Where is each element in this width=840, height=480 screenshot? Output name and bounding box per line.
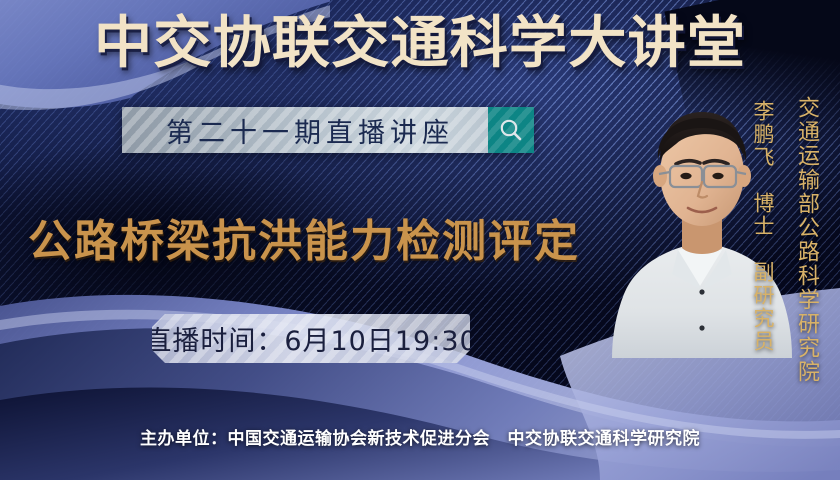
organizer-footer: 主办单位：中国交通运输协会新技术促进分会 中交协联交通科学研究院 bbox=[0, 424, 840, 449]
lecture-title: 公路桥梁抗洪能力检测评定 bbox=[28, 205, 580, 269]
speaker-name: 李鹏飞 博士 副研究员 bbox=[748, 100, 778, 353]
search-icon[interactable] bbox=[488, 107, 534, 153]
poster-canvas: 中交协联交通科学大讲堂 第二十一期直播讲座 公路桥梁抗洪能力检测评定 直播时间：… bbox=[0, 0, 840, 480]
episode-banner: 第二十一期直播讲座 bbox=[122, 107, 534, 153]
broadcast-time-text: 直播时间：6月10日19:30 bbox=[152, 319, 470, 358]
episode-banner-body: 第二十一期直播讲座 bbox=[122, 107, 488, 153]
episode-label: 第二十一期直播讲座 bbox=[122, 107, 488, 153]
broadcast-time-badge: 直播时间：6月10日19:30 bbox=[152, 314, 470, 363]
speaker-organization: 交通运输部公路科学研究院 bbox=[790, 96, 822, 384]
page-title: 中交协联交通科学大讲堂 bbox=[0, 16, 840, 72]
